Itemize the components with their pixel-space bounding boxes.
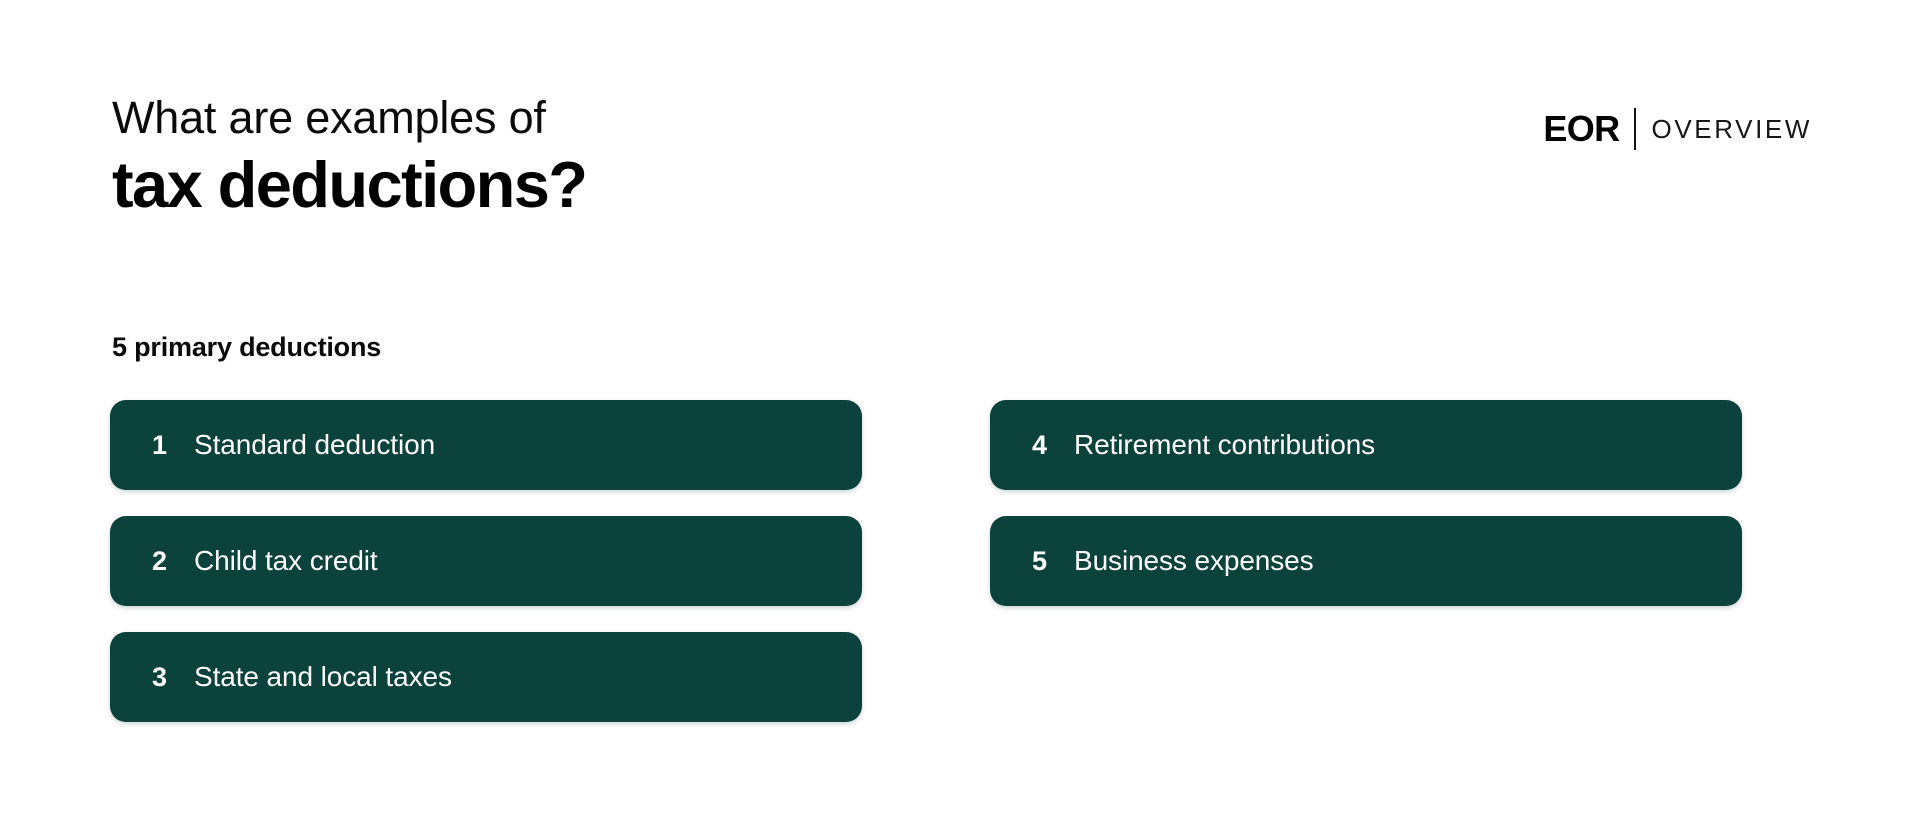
slide-root: What are examples of tax deductions? EOR… — [0, 0, 1920, 818]
deduction-label: Child tax credit — [194, 545, 378, 577]
deduction-item-2[interactable]: 2 Child tax credit — [110, 516, 862, 606]
deductions-column-right: 4 Retirement contributions 5 Business ex… — [990, 400, 1742, 606]
deduction-item-1[interactable]: 1 Standard deduction — [110, 400, 862, 490]
deduction-number: 1 — [152, 430, 194, 461]
deduction-number: 2 — [152, 546, 194, 577]
deduction-label: Retirement contributions — [1074, 429, 1375, 461]
page-title: tax deductions? — [112, 149, 1112, 222]
deduction-item-5[interactable]: 5 Business expenses — [990, 516, 1742, 606]
deductions-column-left: 1 Standard deduction 2 Child tax credit … — [110, 400, 862, 722]
deductions-grid: 1 Standard deduction 2 Child tax credit … — [110, 400, 1742, 722]
deduction-label: Business expenses — [1074, 545, 1314, 577]
deduction-number: 4 — [1032, 430, 1074, 461]
headline-eyebrow: What are examples of — [112, 94, 1112, 143]
logo-wordmark: EOR — [1543, 111, 1633, 147]
deduction-label: Standard deduction — [194, 429, 435, 461]
deduction-number: 3 — [152, 662, 194, 693]
deduction-item-3[interactable]: 3 State and local taxes — [110, 632, 862, 722]
page-header: What are examples of tax deductions? — [112, 94, 1112, 221]
logo-subtitle: OVERVIEW — [1636, 116, 1812, 142]
deduction-number: 5 — [1032, 546, 1074, 577]
section-label: 5 primary deductions — [112, 332, 381, 363]
brand-logo: EOR OVERVIEW — [1543, 106, 1812, 152]
deduction-label: State and local taxes — [194, 661, 452, 693]
deduction-item-4[interactable]: 4 Retirement contributions — [990, 400, 1742, 490]
